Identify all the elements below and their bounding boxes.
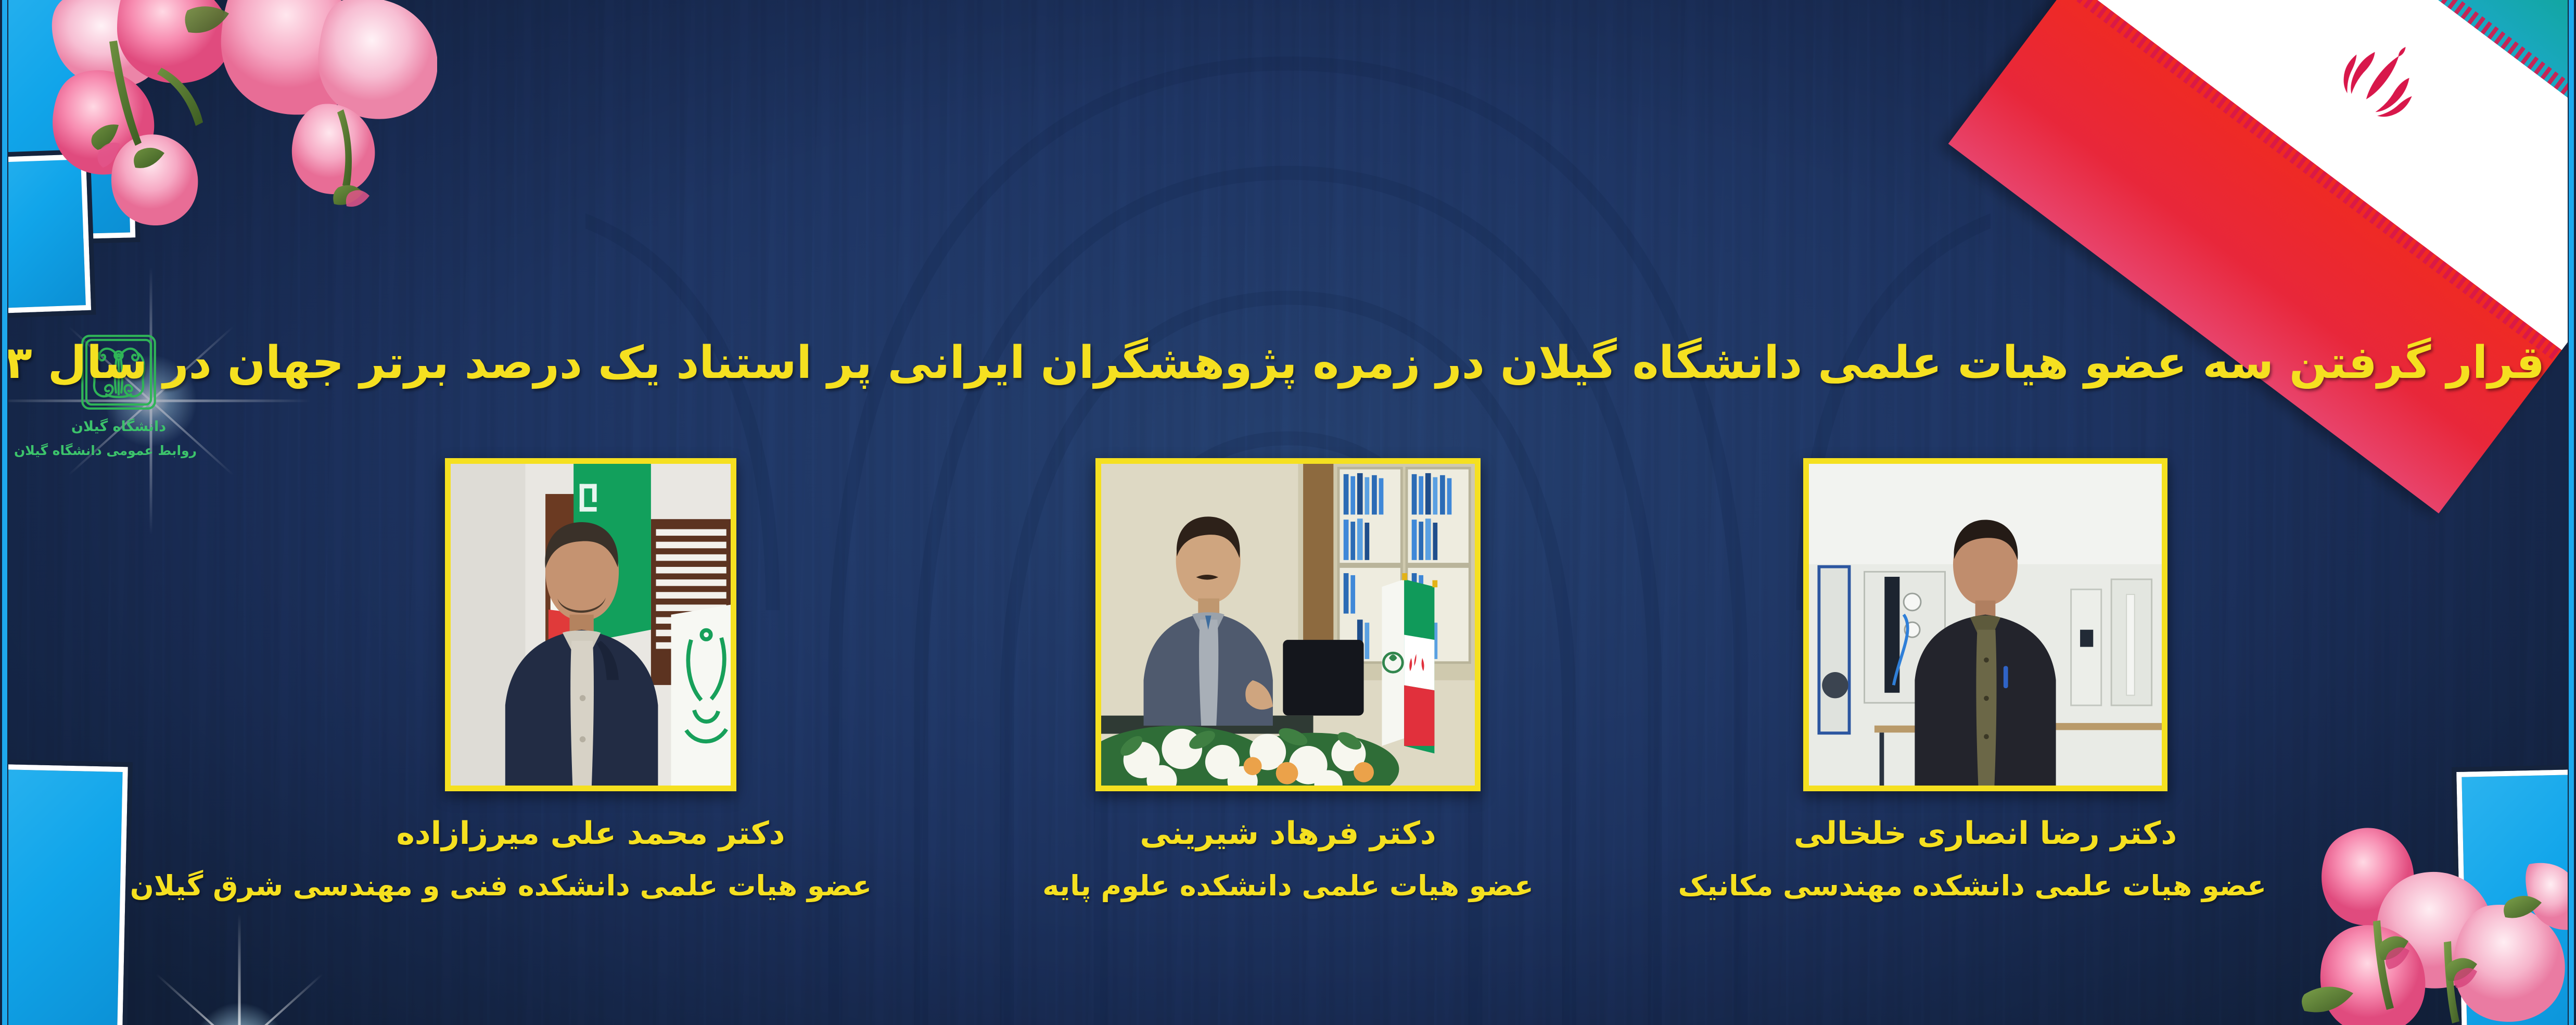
photo-mohammad-ali-mirzazadeh [445,458,736,791]
person-name: دکتر رضا انصاری خلخالی [1704,815,2266,852]
university-name-label: دانشگاه گیلان [41,419,197,435]
banner-canvas: دانشگاه گیلان روابط عمومی دانشگاه گیلان … [0,0,2576,1025]
left-edge-trim [0,0,8,1025]
photo-reza-ansari-khalkhali [1803,458,2167,791]
photo-farhad-shirini [1095,458,1481,791]
person-card: دکتر محمد علی میرزازاده عضو هیات علمی دا… [310,458,872,902]
people-row: دکتر رضا انصاری خلخالی عضو هیات علمی دان… [0,458,2576,902]
person-name: دکتر فرهاد شیرینی [1007,815,1569,852]
person-card: دکتر فرهاد شیرینی عضو هیات علمی دانشکده … [1007,458,1569,902]
person-card: دکتر رضا انصاری خلخالی عضو هیات علمی دان… [1704,458,2266,902]
page-title: قرار گرفتن سه عضو هیات علمی دانشگاه گیلا… [0,339,2576,386]
person-role: عضو هیات علمی دانشکده مهندسی مکانیک [1704,869,2266,902]
person-role: عضو هیات علمی دانشکده فنی و مهندسی شرق گ… [310,869,872,902]
corner-panel-left-upper [0,154,91,314]
person-name: دکتر محمد علی میرزازاده [310,815,872,852]
person-role: عضو هیات علمی دانشکده علوم پایه [1007,869,1569,902]
right-edge-trim [2568,0,2576,1025]
public-relations-label: روابط عمومی دانشگاه گیلان [41,443,197,458]
